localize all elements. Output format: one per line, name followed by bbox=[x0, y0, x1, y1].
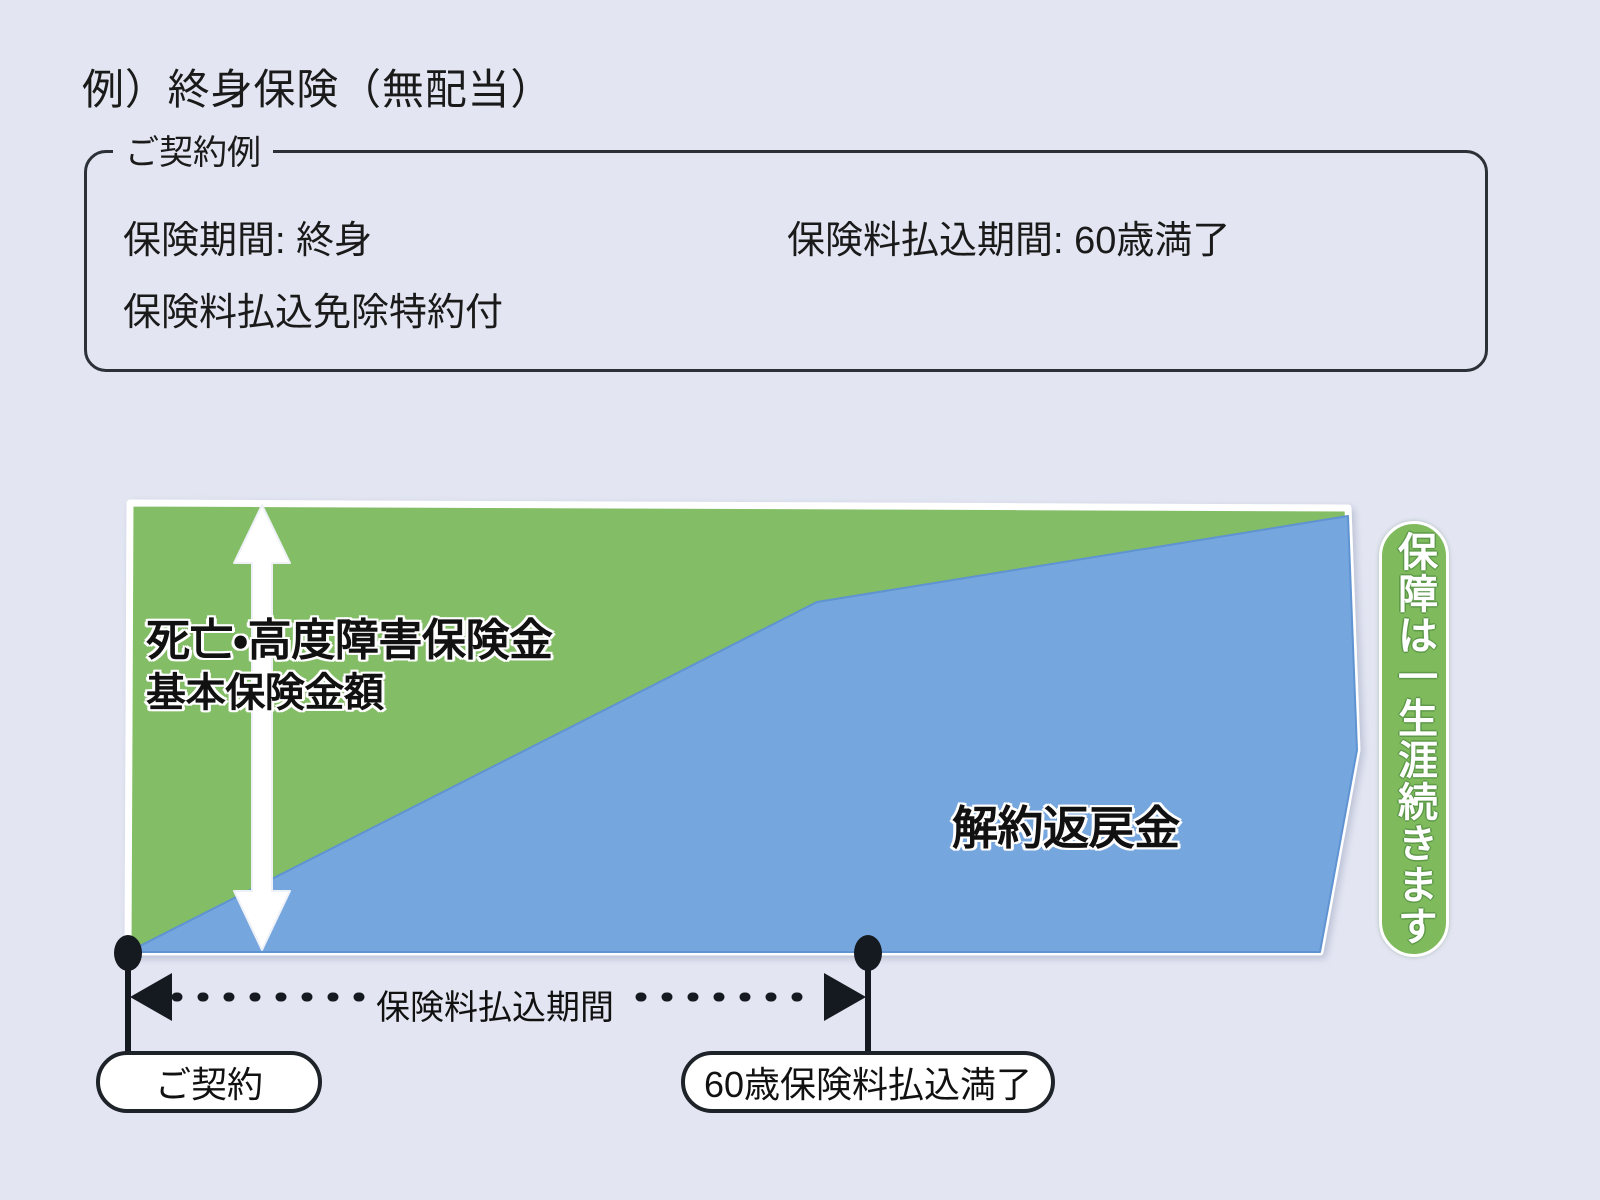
insurance-benefit-diagram bbox=[0, 0, 1600, 1200]
basic-sum-insured-label: 基本保険金額 bbox=[146, 660, 384, 718]
premium-payment-period-caption: 保険料払込期間 bbox=[368, 980, 622, 1029]
lifetime-coverage-badge: 保障は一生涯続きます bbox=[1379, 521, 1449, 957]
timeline-label-paid-up-age-60: 60歳保険料払込満了 bbox=[681, 1051, 1055, 1113]
lifetime-coverage-badge-label: 保障は一生涯続きます bbox=[1394, 531, 1434, 947]
death-benefit-label: 死亡・高度障害保険金 bbox=[146, 604, 553, 668]
timeline-label-contract-start: ご契約 bbox=[96, 1051, 322, 1113]
surrender-value-label: 解約返戻金 bbox=[952, 792, 1180, 858]
